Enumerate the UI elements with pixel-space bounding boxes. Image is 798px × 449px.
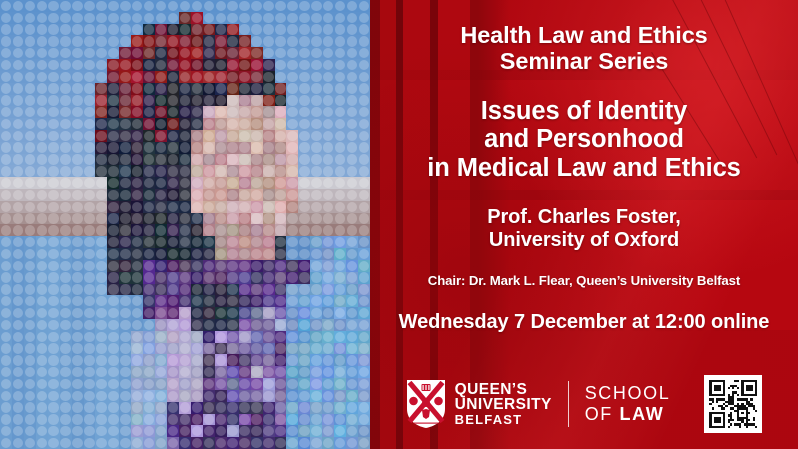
halftone-dot bbox=[286, 142, 298, 154]
halftone-dot bbox=[167, 130, 179, 142]
halftone-dot bbox=[143, 165, 155, 177]
halftone-dot bbox=[346, 354, 358, 366]
halftone-dot bbox=[286, 224, 298, 236]
halftone-dot bbox=[131, 142, 143, 154]
halftone-dot bbox=[203, 354, 215, 366]
halftone-dot bbox=[346, 12, 358, 24]
halftone-dot bbox=[107, 402, 119, 414]
halftone-dot bbox=[239, 189, 251, 201]
halftone-dot bbox=[143, 71, 155, 83]
halftone-dot bbox=[263, 201, 275, 213]
halftone-dot bbox=[119, 165, 131, 177]
halftone-dot bbox=[310, 47, 322, 59]
halftone-dot bbox=[95, 425, 107, 437]
halftone-dot bbox=[191, 272, 203, 284]
halftone-dot bbox=[251, 378, 263, 390]
halftone-dot bbox=[334, 354, 346, 366]
halftone-dot bbox=[107, 307, 119, 319]
halftone-dot bbox=[322, 118, 334, 130]
halftone-dot bbox=[346, 402, 358, 414]
halftone-dot bbox=[143, 307, 155, 319]
halftone-dot bbox=[60, 24, 72, 36]
halftone-dot bbox=[107, 378, 119, 390]
halftone-dot bbox=[263, 118, 275, 130]
halftone-dot bbox=[251, 165, 263, 177]
halftone-dot bbox=[119, 366, 131, 378]
halftone-dot bbox=[0, 130, 12, 142]
halftone-dot bbox=[191, 24, 203, 36]
halftone-dot bbox=[215, 425, 227, 437]
halftone-dot bbox=[36, 224, 48, 236]
halftone-dot bbox=[12, 414, 24, 426]
halftone-dot bbox=[84, 425, 96, 437]
halftone-dot bbox=[179, 366, 191, 378]
queens-university-wordmark: QUEEN’S UNIVERSITY BELFAST bbox=[455, 382, 552, 427]
halftone-dot bbox=[155, 236, 167, 248]
halftone-dot bbox=[275, 236, 287, 248]
halftone-dot bbox=[179, 83, 191, 95]
halftone-dot bbox=[358, 165, 370, 177]
halftone-dot bbox=[143, 414, 155, 426]
halftone-dot bbox=[346, 414, 358, 426]
halftone-dot bbox=[310, 213, 322, 225]
halftone-dot bbox=[95, 177, 107, 189]
halftone-dot bbox=[60, 272, 72, 284]
halftone-dot bbox=[95, 201, 107, 213]
halftone-dot bbox=[143, 425, 155, 437]
halftone-dot bbox=[72, 307, 84, 319]
halftone-dot bbox=[179, 24, 191, 36]
halftone-dot bbox=[60, 284, 72, 296]
halftone-dot bbox=[358, 201, 370, 213]
halftone-dot bbox=[60, 260, 72, 272]
halftone-dot bbox=[358, 95, 370, 107]
halftone-dot bbox=[131, 343, 143, 355]
halftone-dot bbox=[60, 343, 72, 355]
halftone-dot bbox=[167, 390, 179, 402]
halftone-dot bbox=[36, 437, 48, 449]
queens-university-logo: QUEEN’S UNIVERSITY BELFAST bbox=[406, 379, 552, 429]
halftone-dot bbox=[227, 106, 239, 118]
halftone-dot bbox=[286, 106, 298, 118]
halftone-dot bbox=[227, 414, 239, 426]
halftone-dot bbox=[48, 402, 60, 414]
halftone-dot bbox=[298, 284, 310, 296]
halftone-dot bbox=[72, 165, 84, 177]
halftone-dot bbox=[251, 437, 263, 449]
halftone-dot bbox=[119, 35, 131, 47]
halftone-dot bbox=[72, 83, 84, 95]
halftone-dot bbox=[48, 95, 60, 107]
talk-title-line-2: and Personhood bbox=[370, 125, 798, 154]
halftone-dot bbox=[84, 0, 96, 12]
halftone-dot bbox=[155, 272, 167, 284]
halftone-dot bbox=[227, 165, 239, 177]
halftone-dot bbox=[72, 118, 84, 130]
halftone-dot bbox=[215, 284, 227, 296]
school-line-1: SCHOOL bbox=[585, 383, 671, 404]
halftone-dot bbox=[263, 437, 275, 449]
halftone-dot bbox=[227, 142, 239, 154]
halftone-dot bbox=[72, 284, 84, 296]
halftone-dot bbox=[131, 213, 143, 225]
halftone-dot bbox=[346, 177, 358, 189]
halftone-dot bbox=[263, 295, 275, 307]
halftone-dot bbox=[107, 343, 119, 355]
halftone-dot bbox=[12, 201, 24, 213]
halftone-dot bbox=[143, 59, 155, 71]
halftone-dot bbox=[334, 425, 346, 437]
halftone-dot bbox=[107, 118, 119, 130]
halftone-dot bbox=[263, 224, 275, 236]
halftone-dot bbox=[191, 165, 203, 177]
halftone-dot bbox=[119, 260, 131, 272]
halftone-dot bbox=[36, 402, 48, 414]
halftone-dot bbox=[215, 118, 227, 130]
halftone-dot bbox=[346, 331, 358, 343]
halftone-dot bbox=[227, 83, 239, 95]
halftone-dot bbox=[72, 177, 84, 189]
halftone-dot bbox=[95, 95, 107, 107]
halftone-dot bbox=[95, 248, 107, 260]
halftone-dot bbox=[334, 47, 346, 59]
halftone-dot bbox=[334, 130, 346, 142]
halftone-dot bbox=[36, 118, 48, 130]
halftone-dot bbox=[155, 118, 167, 130]
halftone-dot bbox=[286, 425, 298, 437]
halftone-dot bbox=[191, 425, 203, 437]
halftone-dot bbox=[275, 425, 287, 437]
halftone-dot bbox=[298, 437, 310, 449]
halftone-dot bbox=[227, 390, 239, 402]
halftone-dot bbox=[275, 189, 287, 201]
halftone-dot bbox=[251, 236, 263, 248]
halftone-dot bbox=[48, 366, 60, 378]
halftone-dot bbox=[48, 437, 60, 449]
halftone-dot bbox=[263, 248, 275, 260]
halftone-dot bbox=[95, 307, 107, 319]
halftone-dot bbox=[155, 402, 167, 414]
qr-code-panel[interactable] bbox=[704, 375, 762, 433]
halftone-dot bbox=[263, 331, 275, 343]
halftone-dot bbox=[334, 319, 346, 331]
halftone-dot bbox=[215, 106, 227, 118]
halftone-dot bbox=[24, 331, 36, 343]
halftone-dot bbox=[36, 201, 48, 213]
halftone-dot bbox=[239, 236, 251, 248]
halftone-dot bbox=[203, 154, 215, 166]
halftone-dot bbox=[36, 366, 48, 378]
halftone-dot bbox=[107, 189, 119, 201]
halftone-dot bbox=[203, 35, 215, 47]
halftone-dot bbox=[131, 284, 143, 296]
halftone-dot bbox=[167, 189, 179, 201]
halftone-dot bbox=[179, 118, 191, 130]
halftone-dot bbox=[215, 414, 227, 426]
halftone-dot bbox=[263, 319, 275, 331]
halftone-dot bbox=[275, 95, 287, 107]
halftone-dot bbox=[322, 366, 334, 378]
halftone-dot bbox=[275, 201, 287, 213]
halftone-dot bbox=[12, 378, 24, 390]
halftone-dot bbox=[263, 189, 275, 201]
halftone-dot bbox=[286, 95, 298, 107]
halftone-dot bbox=[191, 402, 203, 414]
halftone-dot bbox=[95, 118, 107, 130]
halftone-dot bbox=[0, 354, 12, 366]
halftone-dot bbox=[95, 130, 107, 142]
halftone-dot bbox=[107, 24, 119, 36]
halftone-dot bbox=[60, 295, 72, 307]
halftone-dot bbox=[191, 343, 203, 355]
halftone-dot bbox=[12, 248, 24, 260]
halftone-dot bbox=[215, 71, 227, 83]
halftone-dot bbox=[263, 142, 275, 154]
halftone-dot bbox=[263, 106, 275, 118]
halftone-dot bbox=[334, 24, 346, 36]
talk-title-line-3: in Medical Law and Ethics bbox=[370, 154, 798, 183]
halftone-dot bbox=[155, 307, 167, 319]
halftone-dot bbox=[119, 59, 131, 71]
halftone-dot bbox=[179, 95, 191, 107]
halftone-dot bbox=[203, 0, 215, 12]
halftone-dot bbox=[179, 201, 191, 213]
halftone-dot bbox=[203, 130, 215, 142]
halftone-dot bbox=[298, 224, 310, 236]
halftone-dot bbox=[179, 402, 191, 414]
halftone-dot bbox=[263, 390, 275, 402]
halftone-dot bbox=[179, 130, 191, 142]
halftone-dot bbox=[95, 284, 107, 296]
halftone-dot bbox=[191, 0, 203, 12]
halftone-dot bbox=[286, 295, 298, 307]
halftone-dot bbox=[72, 142, 84, 154]
halftone-dot bbox=[179, 154, 191, 166]
halftone-dot bbox=[286, 366, 298, 378]
halftone-dot bbox=[263, 260, 275, 272]
halftone-dot bbox=[346, 189, 358, 201]
qr-module bbox=[755, 426, 757, 428]
halftone-dot bbox=[84, 83, 96, 95]
halftone-dot bbox=[191, 319, 203, 331]
halftone-dot bbox=[119, 378, 131, 390]
halftone-dot bbox=[179, 378, 191, 390]
halftone-dot bbox=[167, 154, 179, 166]
halftone-dot bbox=[251, 83, 263, 95]
halftone-dot bbox=[346, 165, 358, 177]
halftone-dot bbox=[275, 284, 287, 296]
halftone-dot bbox=[227, 319, 239, 331]
halftone-dot bbox=[263, 165, 275, 177]
qr-code-icon[interactable] bbox=[709, 380, 757, 428]
halftone-dot bbox=[215, 272, 227, 284]
halftone-dot bbox=[263, 83, 275, 95]
halftone-dot bbox=[346, 24, 358, 36]
halftone-dot bbox=[239, 260, 251, 272]
halftone-dot bbox=[0, 177, 12, 189]
halftone-dot bbox=[36, 95, 48, 107]
halftone-dot bbox=[179, 142, 191, 154]
halftone-dot bbox=[215, 12, 227, 24]
halftone-dot bbox=[251, 12, 263, 24]
halftone-dot bbox=[203, 24, 215, 36]
halftone-dot bbox=[36, 307, 48, 319]
halftone-dot bbox=[298, 95, 310, 107]
halftone-dot bbox=[227, 201, 239, 213]
halftone-dot bbox=[239, 272, 251, 284]
halftone-dot bbox=[298, 71, 310, 83]
halftone-dot bbox=[60, 35, 72, 47]
halftone-dot bbox=[310, 12, 322, 24]
halftone-dot bbox=[346, 95, 358, 107]
halftone-dot bbox=[48, 224, 60, 236]
halftone-dot bbox=[275, 390, 287, 402]
halftone-dot bbox=[119, 83, 131, 95]
halftone-dot bbox=[167, 59, 179, 71]
halftone-dot bbox=[286, 307, 298, 319]
halftone-dot bbox=[155, 213, 167, 225]
halftone-dot bbox=[143, 0, 155, 12]
halftone-dot bbox=[143, 378, 155, 390]
halftone-dot bbox=[346, 47, 358, 59]
halftone-dot bbox=[48, 24, 60, 36]
halftone-dot bbox=[251, 260, 263, 272]
halftone-dot bbox=[24, 260, 36, 272]
halftone-dot bbox=[131, 331, 143, 343]
halftone-dot bbox=[143, 189, 155, 201]
halftone-dot bbox=[203, 414, 215, 426]
halftone-dot bbox=[95, 366, 107, 378]
halftone-dot bbox=[334, 343, 346, 355]
school-of-law-wordmark: SCHOOL OF LAW bbox=[585, 383, 671, 425]
halftone-dot bbox=[227, 189, 239, 201]
halftone-dot bbox=[346, 295, 358, 307]
halftone-dot bbox=[24, 35, 36, 47]
halftone-dot bbox=[203, 402, 215, 414]
halftone-dot bbox=[143, 95, 155, 107]
halftone-dot bbox=[334, 189, 346, 201]
halftone-dot bbox=[36, 378, 48, 390]
halftone-dot bbox=[239, 378, 251, 390]
halftone-dot bbox=[95, 12, 107, 24]
halftone-dot bbox=[358, 378, 370, 390]
halftone-dot bbox=[239, 83, 251, 95]
halftone-dot bbox=[48, 331, 60, 343]
halftone-dot bbox=[24, 47, 36, 59]
halftone-dot bbox=[310, 425, 322, 437]
halftone-dot bbox=[263, 213, 275, 225]
halftone-dot bbox=[251, 402, 263, 414]
halftone-dot bbox=[107, 71, 119, 83]
halftone-dot bbox=[179, 390, 191, 402]
halftone-dot bbox=[0, 390, 12, 402]
halftone-dot bbox=[0, 284, 12, 296]
halftone-dot bbox=[36, 295, 48, 307]
halftone-dot bbox=[12, 213, 24, 225]
halftone-dot bbox=[48, 272, 60, 284]
halftone-dot bbox=[334, 437, 346, 449]
halftone-dot bbox=[119, 414, 131, 426]
halftone-dot bbox=[60, 307, 72, 319]
halftone-dot bbox=[72, 236, 84, 248]
halftone-dot bbox=[95, 414, 107, 426]
halftone-dot bbox=[239, 319, 251, 331]
halftone-dot bbox=[251, 295, 263, 307]
halftone-dot bbox=[24, 189, 36, 201]
halftone-dot bbox=[60, 95, 72, 107]
halftone-dot bbox=[298, 35, 310, 47]
halftone-dot bbox=[275, 343, 287, 355]
halftone-dot bbox=[346, 71, 358, 83]
halftone-dot bbox=[107, 47, 119, 59]
halftone-dot bbox=[179, 12, 191, 24]
halftone-dot bbox=[60, 213, 72, 225]
halftone-dot bbox=[191, 236, 203, 248]
halftone-dot bbox=[334, 165, 346, 177]
halftone-dot bbox=[24, 295, 36, 307]
halftone-dot bbox=[131, 95, 143, 107]
halftone-dot bbox=[179, 177, 191, 189]
halftone-dot bbox=[275, 47, 287, 59]
halftone-dot bbox=[227, 71, 239, 83]
halftone-dot bbox=[322, 307, 334, 319]
halftone-dot bbox=[275, 24, 287, 36]
halftone-dot bbox=[179, 165, 191, 177]
halftone-dot bbox=[215, 154, 227, 166]
halftone-dot bbox=[95, 47, 107, 59]
halftone-dot bbox=[215, 260, 227, 272]
halftone-dot bbox=[251, 414, 263, 426]
halftone-dot bbox=[239, 47, 251, 59]
halftone-dot bbox=[60, 414, 72, 426]
event-datetime-text: Wednesday 7 December at 12:00 online bbox=[370, 311, 798, 333]
halftone-dot bbox=[107, 0, 119, 12]
halftone-dot bbox=[84, 354, 96, 366]
halftone-dot bbox=[334, 201, 346, 213]
halftone-dot bbox=[155, 83, 167, 95]
halftone-dot bbox=[167, 0, 179, 12]
halftone-dot bbox=[167, 47, 179, 59]
halftone-dot bbox=[179, 319, 191, 331]
halftone-dot bbox=[322, 425, 334, 437]
halftone-dot bbox=[191, 437, 203, 449]
halftone-dot bbox=[203, 378, 215, 390]
halftone-dot bbox=[131, 47, 143, 59]
halftone-dot bbox=[72, 414, 84, 426]
halftone-dot bbox=[155, 177, 167, 189]
halftone-dot bbox=[227, 366, 239, 378]
halftone-dot bbox=[119, 319, 131, 331]
halftone-dot bbox=[84, 154, 96, 166]
halftone-dot bbox=[286, 213, 298, 225]
halftone-dot bbox=[107, 425, 119, 437]
halftone-dot bbox=[286, 437, 298, 449]
halftone-dot bbox=[239, 59, 251, 71]
halftone-dot bbox=[155, 142, 167, 154]
halftone-dot bbox=[84, 378, 96, 390]
halftone-dot bbox=[215, 213, 227, 225]
halftone-dot bbox=[84, 319, 96, 331]
halftone-dot bbox=[48, 118, 60, 130]
halftone-dot bbox=[24, 24, 36, 36]
halftone-dot bbox=[24, 366, 36, 378]
halftone-dot bbox=[191, 224, 203, 236]
halftone-dot bbox=[275, 106, 287, 118]
halftone-dot bbox=[143, 272, 155, 284]
halftone-dot bbox=[298, 189, 310, 201]
halftone-dot bbox=[131, 71, 143, 83]
halftone-dot bbox=[203, 236, 215, 248]
